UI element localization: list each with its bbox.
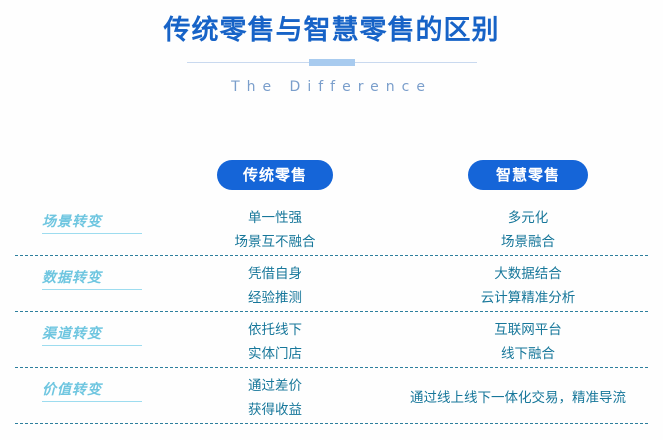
cell-line: 云计算精准分析: [450, 286, 606, 310]
row-3-traditional-cell: 通过差价 获得收益: [200, 374, 350, 422]
row-divider: [15, 423, 648, 424]
column-headings: 传统零售 智慧零售: [0, 160, 663, 192]
comparison-infographic: 传统零售与智慧零售的区别 The Difference 传统零售 智慧零售 场景…: [0, 0, 663, 440]
row-label-value: 价值转变: [42, 379, 142, 402]
cell-line: 通过线上线下一体化交易，精准导流: [378, 386, 658, 410]
title-divider: [187, 58, 477, 68]
row-1-smart-cell: 大数据结合 云计算精准分析: [450, 262, 606, 310]
page-title: 传统零售与智慧零售的区别: [0, 0, 663, 48]
row-2-smart-cell: 互联网平台 线下融合: [450, 318, 606, 366]
row-label-data: 数据转变: [42, 267, 142, 290]
row-3-smart-cell: 通过线上线下一体化交易，精准导流: [378, 386, 658, 410]
table-row: 价值转变 通过差价 获得收益 通过线上线下一体化交易，精准导流: [0, 368, 663, 424]
comparison-rows: 场景转变 单一性强 场景互不融合 多元化 场景融合 数据转变 凭借自身 经验推测…: [0, 200, 663, 424]
cell-line: 经验推测: [200, 286, 350, 310]
row-label-channel: 渠道转变: [42, 323, 142, 346]
cell-line: 实体门店: [200, 342, 350, 366]
cell-line: 通过差价: [200, 374, 350, 398]
cell-line: 单一性强: [200, 206, 350, 230]
row-1-traditional-cell: 凭借自身 经验推测: [200, 262, 350, 310]
table-row: 渠道转变 依托线下 实体门店 互联网平台 线下融合: [0, 312, 663, 368]
cell-line: 多元化: [450, 206, 606, 230]
cell-line: 场景融合: [450, 230, 606, 254]
header: 传统零售与智慧零售的区别 The Difference: [0, 0, 663, 96]
row-label-scene: 场景转变: [42, 211, 142, 234]
row-0-traditional-cell: 单一性强 场景互不融合: [200, 206, 350, 254]
row-0-smart-cell: 多元化 场景融合: [450, 206, 606, 254]
page-subtitle: The Difference: [0, 78, 663, 96]
cell-line: 场景互不融合: [200, 230, 350, 254]
table-row: 场景转变 单一性强 场景互不融合 多元化 场景融合: [0, 200, 663, 256]
column-heading-smart[interactable]: 智慧零售: [468, 160, 588, 190]
cell-line: 线下融合: [450, 342, 606, 366]
cell-line: 依托线下: [200, 318, 350, 342]
cell-line: 大数据结合: [450, 262, 606, 286]
column-heading-traditional[interactable]: 传统零售: [217, 160, 333, 190]
cell-line: 互联网平台: [450, 318, 606, 342]
divider-accent-block: [309, 59, 355, 66]
row-2-traditional-cell: 依托线下 实体门店: [200, 318, 350, 366]
table-row: 数据转变 凭借自身 经验推测 大数据结合 云计算精准分析: [0, 256, 663, 312]
cell-line: 获得收益: [200, 398, 350, 422]
cell-line: 凭借自身: [200, 262, 350, 286]
